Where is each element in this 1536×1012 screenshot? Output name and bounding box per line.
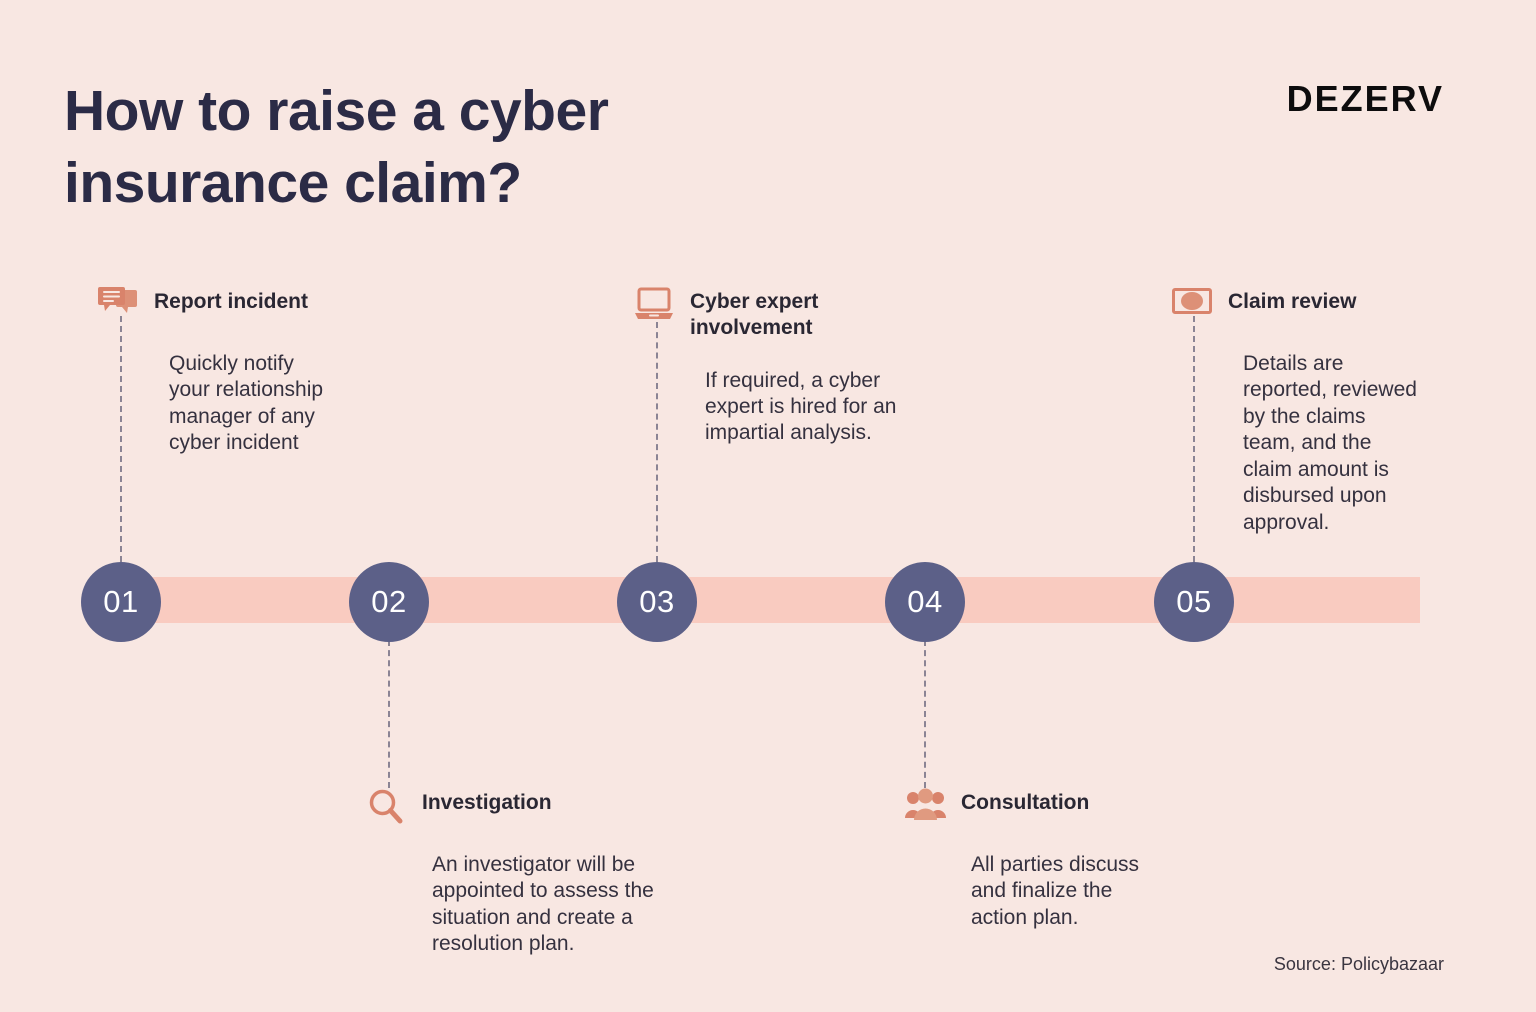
- step-title-04: Consultation: [961, 788, 1089, 816]
- banknote-icon: [1172, 287, 1214, 325]
- timeline-node-label: 02: [371, 584, 406, 620]
- timeline-node-05[interactable]: 05: [1154, 562, 1234, 642]
- people-group-icon: [905, 788, 947, 826]
- step-title-05: Claim review: [1228, 287, 1356, 315]
- step-body-05: Details are reported, reviewed by the cl…: [1243, 351, 1472, 536]
- magnifier-icon: [366, 788, 408, 826]
- step-header-04: Consultation: [905, 788, 1205, 826]
- step-header-01: Report incident: [98, 287, 418, 325]
- timeline-node-04[interactable]: 04: [885, 562, 965, 642]
- step-body-04: All parties discuss and finalize the act…: [971, 852, 1205, 931]
- step-title-01: Report incident: [154, 287, 308, 315]
- step-header-05: Claim review: [1172, 287, 1472, 325]
- timeline-node-01[interactable]: 01: [81, 562, 161, 642]
- step-header-02: Investigation: [366, 788, 726, 826]
- step-header-03: Cyber expert involvement: [634, 287, 964, 342]
- timeline-node-label: 05: [1176, 584, 1211, 620]
- timeline-node-label: 01: [103, 584, 138, 620]
- connector-line-02: [388, 640, 390, 788]
- page-title: How to raise a cyber insurance claim?: [64, 76, 824, 220]
- step-block-03: Cyber expert involvement If required, a …: [634, 287, 964, 447]
- timeline-node-03[interactable]: 03: [617, 562, 697, 642]
- step-body-03: If required, a cyber expert is hired for…: [705, 368, 964, 447]
- timeline-node-02[interactable]: 02: [349, 562, 429, 642]
- step-block-04: Consultation All parties discuss and fin…: [905, 788, 1205, 931]
- infographic-canvas: How to raise a cyber insurance claim? DE…: [0, 0, 1536, 1012]
- timeline-node-label: 04: [907, 584, 942, 620]
- step-title-02: Investigation: [422, 788, 552, 816]
- step-body-02: An investigator will be appointed to ass…: [432, 852, 726, 958]
- chat-bubbles-icon: [98, 287, 140, 325]
- timeline-node-label: 03: [639, 584, 674, 620]
- step-block-01: Report incident Quickly notify your rela…: [98, 287, 418, 457]
- laptop-icon: [634, 287, 676, 325]
- step-title-03: Cyber expert involvement: [690, 287, 818, 342]
- source-note: Source: Policybazaar: [1274, 954, 1444, 975]
- brand-logo: DEZERV: [1287, 78, 1444, 120]
- step-block-02: Investigation An investigator will be ap…: [366, 788, 726, 958]
- step-block-05: Claim review Details are reported, revie…: [1172, 287, 1472, 536]
- connector-line-04: [924, 640, 926, 788]
- step-body-01: Quickly notify your relationship manager…: [169, 351, 418, 457]
